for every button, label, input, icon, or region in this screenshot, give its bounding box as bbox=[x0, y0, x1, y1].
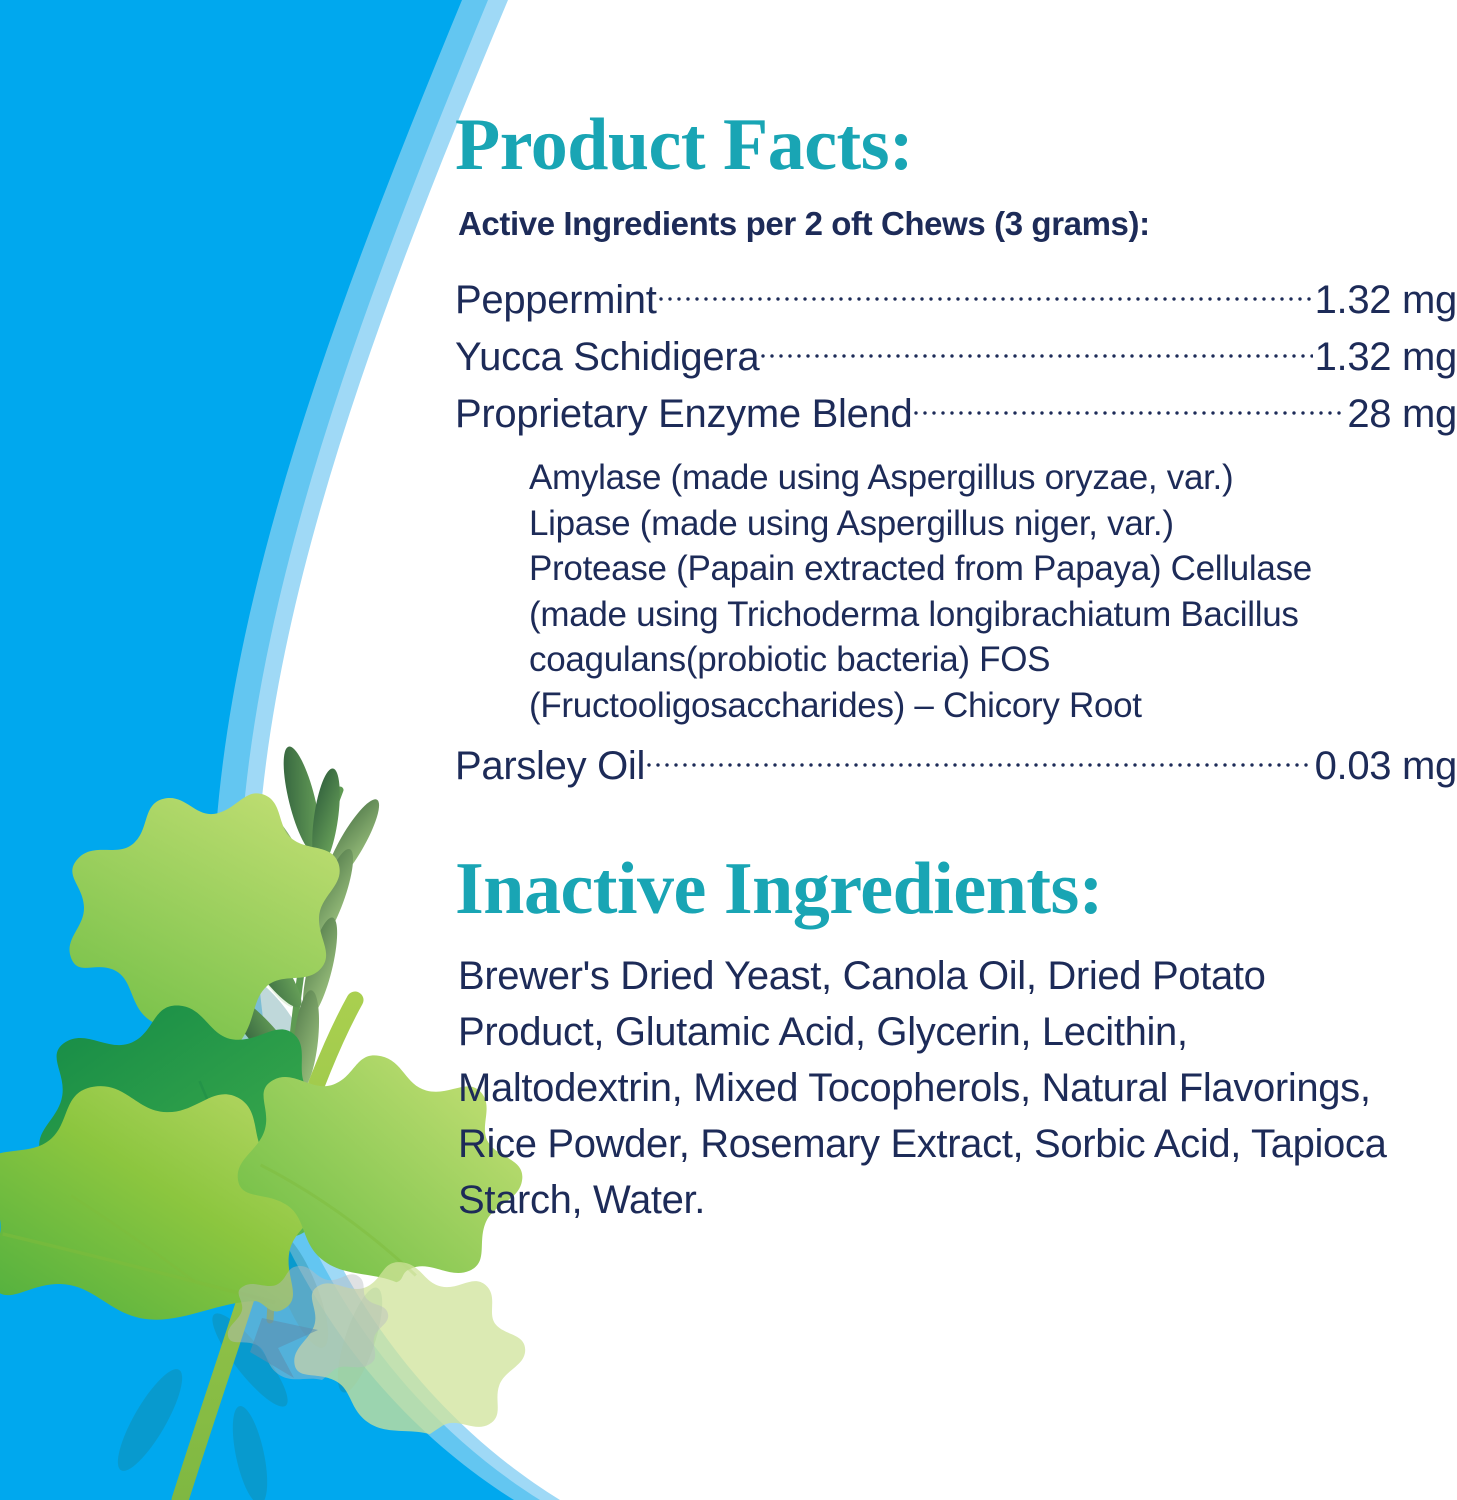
ingredient-name: Proprietary Enzyme Blend bbox=[455, 386, 912, 443]
rosemary-sprig bbox=[217, 743, 387, 1320]
ingredient-row-parsley-oil: Parsley Oil 0.03 mg bbox=[455, 738, 1457, 795]
ingredient-amount: 0.03 mg bbox=[1315, 738, 1457, 795]
dot-leader-icon bbox=[647, 763, 1312, 770]
product-facts-heading: Product Facts: bbox=[455, 108, 913, 182]
ingredient-name: Peppermint bbox=[455, 272, 657, 329]
active-ingredients-list: Peppermint 1.32 mg Yucca Schidigera 1.32… bbox=[455, 272, 1457, 795]
parsley-leaf-ghost-gray bbox=[228, 1266, 388, 1380]
parsley-leaf-top bbox=[50, 776, 362, 1068]
parsley-stem bbox=[180, 1000, 355, 1500]
inactive-ingredients-heading: Inactive Ingredients: bbox=[455, 852, 1103, 926]
content-column: Product Facts: Active Ingredients per 2 … bbox=[455, 0, 1457, 1500]
product-facts-label: Product Facts: Active Ingredients per 2 … bbox=[0, 0, 1457, 1500]
ingredient-row-peppermint: Peppermint 1.32 mg bbox=[455, 272, 1457, 329]
ghost-herbs bbox=[107, 966, 391, 1500]
enzyme-blend-detail-text: Amylase (made using Aspergillus oryzae, … bbox=[455, 442, 1319, 738]
ingredient-amount: 28 mg bbox=[1347, 386, 1457, 443]
wave-shape-main bbox=[0, 0, 514, 1500]
ingredient-name: Parsley Oil bbox=[455, 738, 645, 795]
arrow-accent-shape bbox=[250, 1318, 318, 1378]
ingredient-row-proprietary-enzyme-blend: Proprietary Enzyme Blend 28 mg bbox=[455, 386, 1457, 443]
ingredient-amount: 1.32 mg bbox=[1315, 272, 1457, 329]
inactive-ingredients-text: Brewer's Dried Yeast, Canola Oil, Dried … bbox=[458, 948, 1388, 1228]
ingredient-row-yucca-schidigera: Yucca Schidigera 1.32 mg bbox=[455, 329, 1457, 386]
active-ingredients-subheading: Active Ingredients per 2 oft Chews (3 gr… bbox=[458, 205, 1150, 243]
parsley-leaf-dark bbox=[33, 996, 357, 1261]
parsley-leaf-left bbox=[0, 1079, 326, 1326]
parsley-stem-branch bbox=[268, 1190, 382, 1228]
dot-leader-icon bbox=[659, 297, 1313, 304]
ingredient-amount: 1.32 mg bbox=[1315, 329, 1457, 386]
ingredient-name: Yucca Schidigera bbox=[455, 329, 759, 386]
dot-leader-icon bbox=[761, 354, 1312, 361]
ghost-rosemary-white bbox=[200, 848, 328, 1075]
dot-leader-icon bbox=[914, 411, 1345, 418]
